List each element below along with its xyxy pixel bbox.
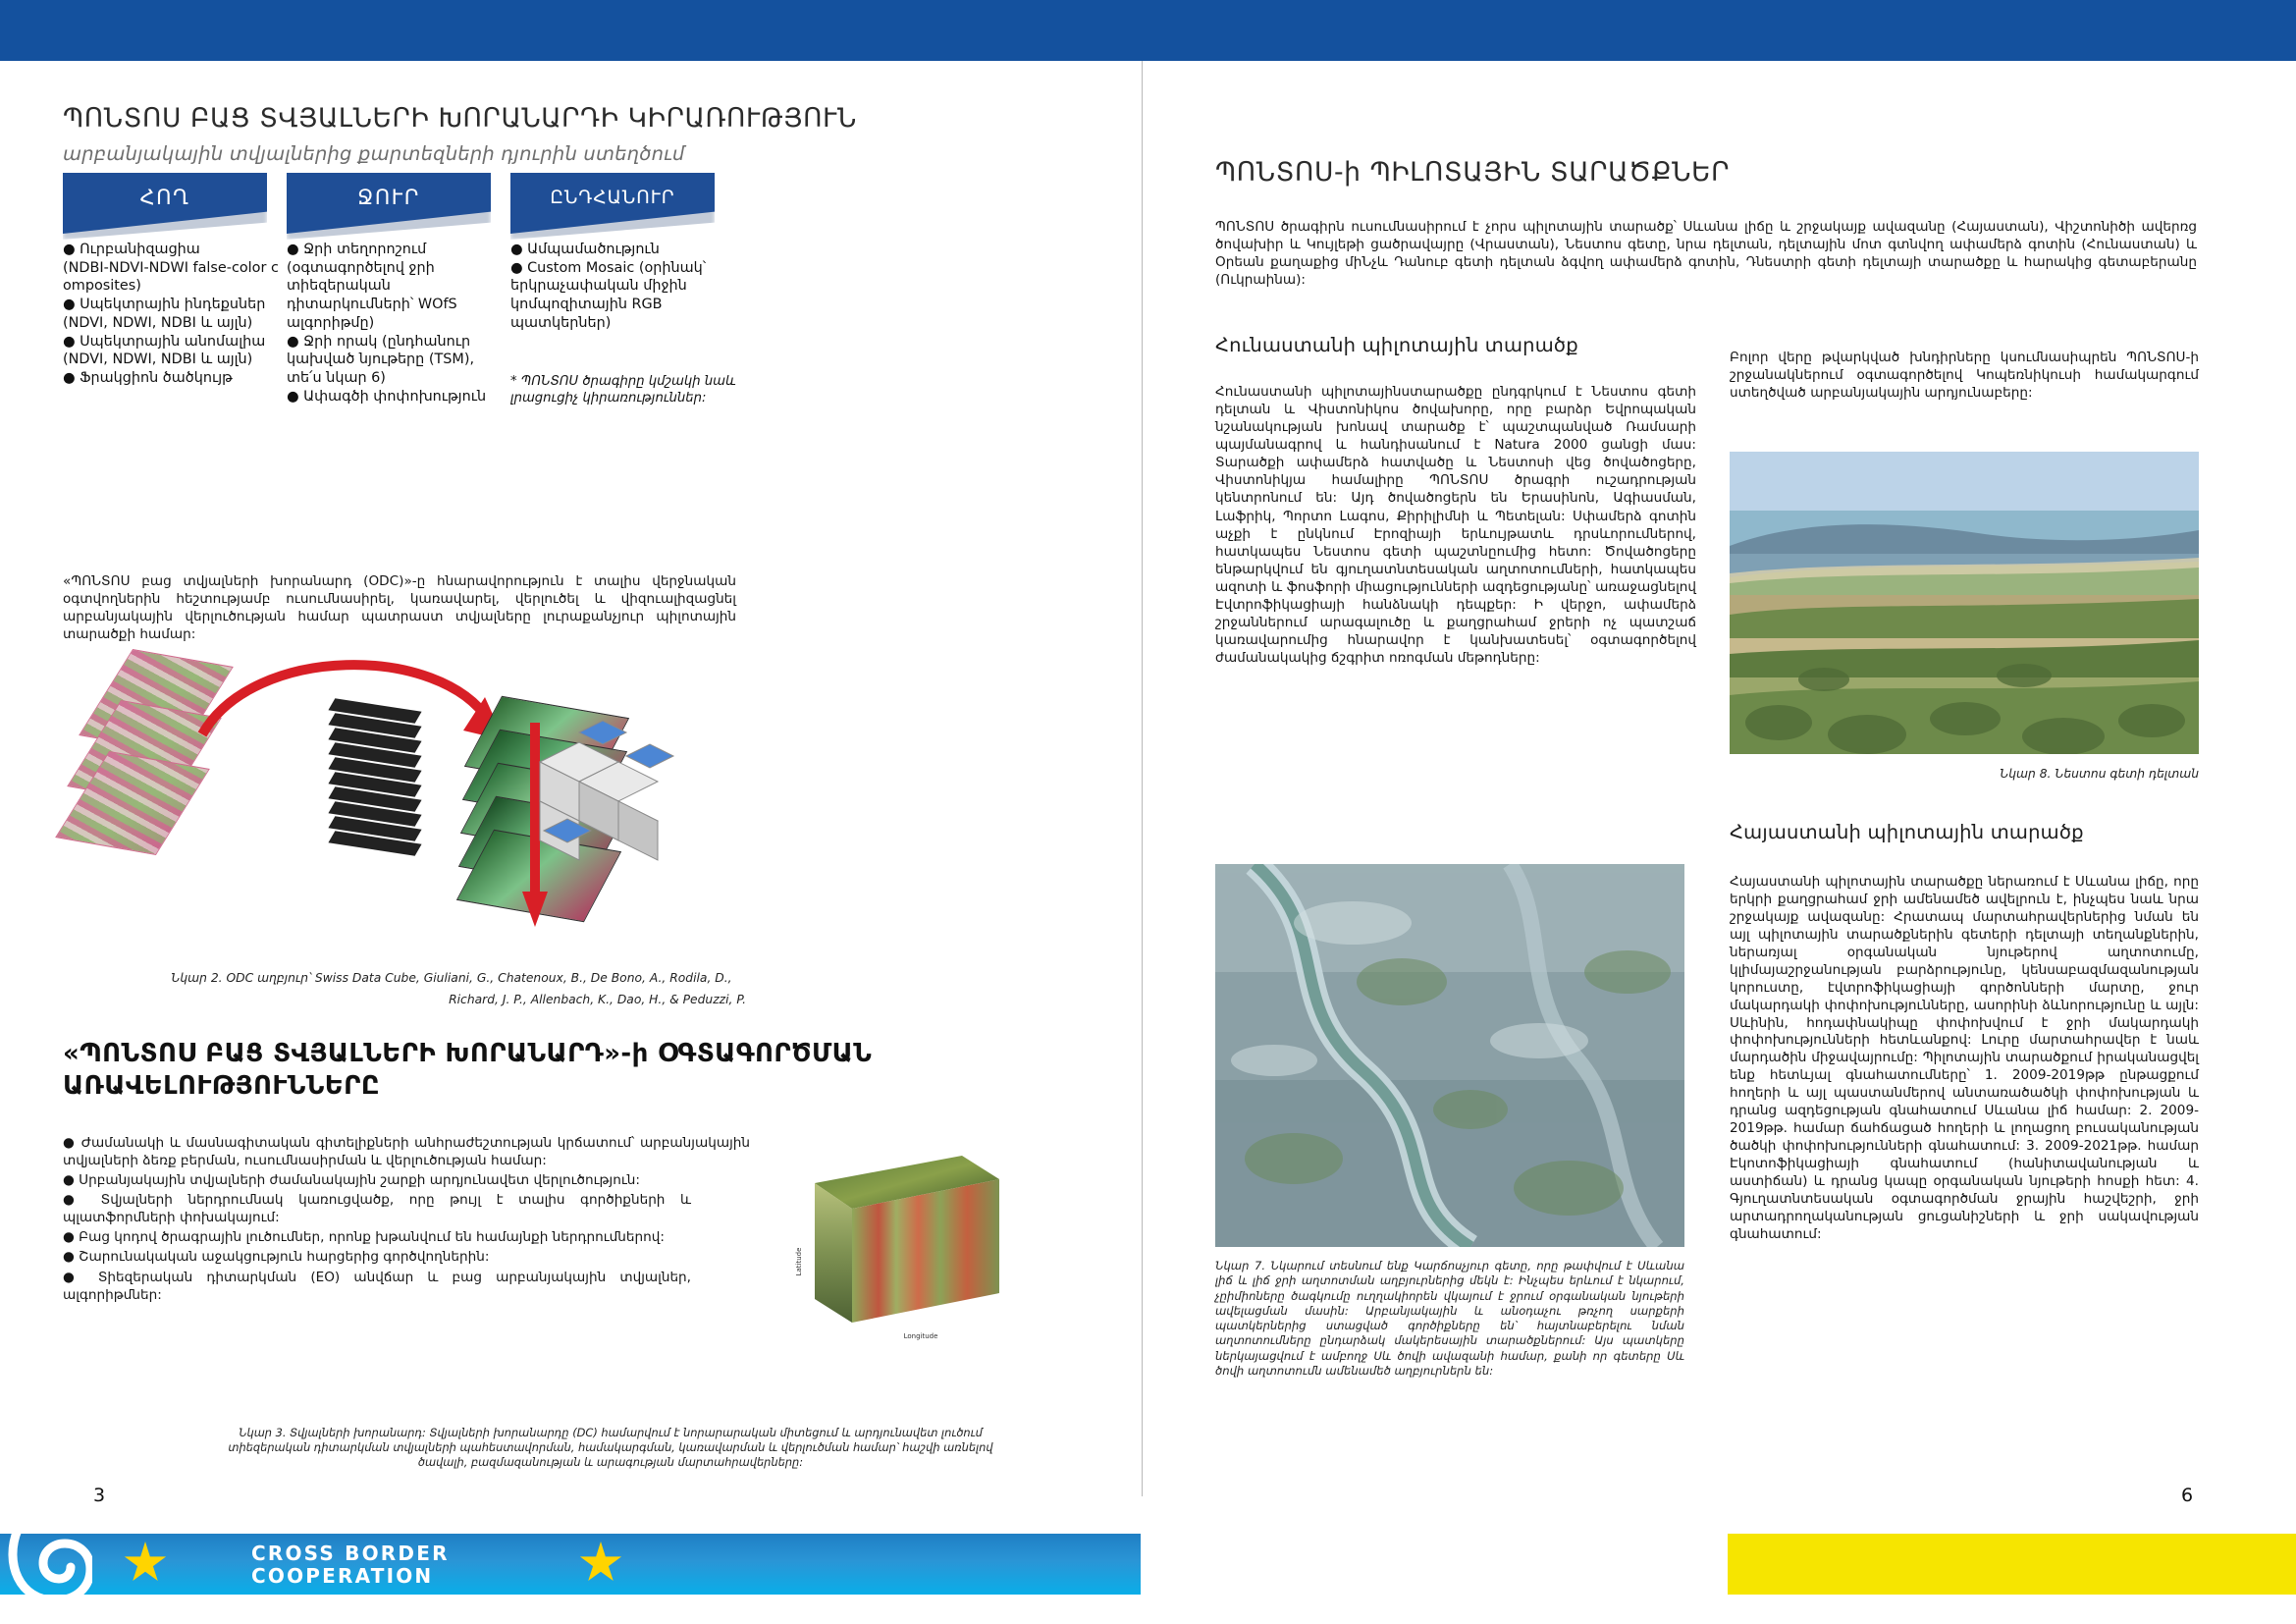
bullet-item: տե՛ս նկար 6) <box>287 369 501 388</box>
figure-2-odc-diagram <box>77 648 705 943</box>
bullet-item: դիտարկումների՝ WOfS <box>287 296 501 314</box>
advantage-item: ● Տիեզերական դիտարկման (EO) անվճար և բաց… <box>63 1269 691 1304</box>
svg-text:Longitude: Longitude <box>904 1332 938 1340</box>
data-cube-3d <box>520 713 697 880</box>
advantage-item: ● Ժամանակի և մասնագիտական գիտելիքների ան… <box>63 1134 750 1169</box>
greece-section-left-column: Հունաստանի պիլոտայինստարածքը ընդգրկում է… <box>1215 383 1696 667</box>
bullet-item: ● Ափագծի փոփոխություն <box>287 388 501 406</box>
figure-2-caption-line2: Richard, J. P., Allenbach, K., Dao, H., … <box>157 992 746 1008</box>
bullet-item: ● Սպեկտրային ինդեքսներ <box>63 296 287 314</box>
bullet-item: (NDVI, NDWI, NDBI և այլն) <box>63 314 287 333</box>
left-section2-title-line2: ԱՌԱՎԵԼՈՒԹՅՈՒՆՆԵՐԸ <box>63 1070 1044 1103</box>
advantages-list: ● Ժամանակի և մասնագիտական գիտելիքների ան… <box>63 1134 750 1306</box>
bullet-item: ալգորիթմը) <box>287 314 501 333</box>
right-page-title: ՊՈՆՏՈՍ-ի ՊԻԼՈՏԱՅԻՆ ՏԱՐԱԾՔՆԵՐ <box>1215 157 2197 188</box>
bullet-item: կախված նյութերը (TSM), <box>287 351 501 369</box>
figure-3-data-cube: Longitude Latitude <box>775 1144 1003 1340</box>
greece-section-right-column: Բոլոր վերը թվարկված խնդիրները կսումնասիպ… <box>1730 349 2199 402</box>
cbc-swirl-logo-icon <box>8 1524 92 1604</box>
bullets-water: ● Ջրի տեղորոշում (օգտագործելով ջրի տիեզե… <box>287 241 501 406</box>
bullet-item: ● Custom Mosaic (օրինակ՝ <box>510 259 736 278</box>
left-page-title: ՊՈՆՏՈՍ ԲԱՑ ՏՎՅԱԼՆԵՐԻ ԽՈՐԱՆԱՐԴԻ ԿԻՐԱՌՈՒԹՅ… <box>63 103 1103 134</box>
figure-7-river-aerial-photo <box>1215 864 1684 1247</box>
left-page-number: 3 <box>93 1485 105 1506</box>
armenia-section-heading: Հայաստանի պիլոտային տարածք <box>1730 821 2199 843</box>
figure-7-caption: Նկար 7. Նկարում տեսնում ենք Կարճոսչյուր … <box>1215 1259 1684 1379</box>
bullets-general: ● Ամպամածություն ● Custom Mosaic (օրինակ… <box>510 241 736 333</box>
bullets-land: ● Ուրբանիզացիա (NDBI-NDVI-NDWI false-col… <box>63 241 287 388</box>
left-intro-paragraph: «ՊՈՆՏՈՍ բաց տվյալների խորանարդ (ODC)»-ը … <box>63 572 736 643</box>
bullet-item: երկրաչափական միջին <box>510 277 736 296</box>
cbc-line-1: CROSS BORDER <box>251 1543 450 1565</box>
page-divider <box>1142 61 1143 1496</box>
bullet-item: (օգտագործելով ջրի <box>287 259 501 278</box>
bullet-item: ● Սպեկտրային անոմալիա <box>63 333 287 352</box>
figure-2-caption-line1: Նկար 2. ODC աղբյուր՝ Swiss Data Cube, Gi… <box>157 970 746 987</box>
bullet-item: (NDVI, NDWI, NDBI և այլն) <box>63 351 287 369</box>
figure-8-nestos-delta-photo <box>1730 452 2199 754</box>
right-intro-paragraph: ՊՈՆՏՈՍ ծրագիրն ուսումնասիրում է չորս պիլ… <box>1215 218 2197 289</box>
bullet-item: ● Ջրի տեղորոշում <box>287 241 501 259</box>
banners-footnote: * ՊՈՆՏՈՍ ծրագիրը կմշակի նաև լրացուցիչ կի… <box>510 373 736 406</box>
figure-3-caption: Նկար 3. Տվյալների խորանարդ: Տվյալների խո… <box>218 1426 1003 1469</box>
bullet-item: տիեզերական <box>287 277 501 296</box>
footer-band-right <box>1728 1534 2296 1595</box>
advantage-item: ● Շարունակական աջակցություն հարցերից գոր… <box>63 1248 691 1266</box>
greece-section-heading: Հունաստանի պիլոտային տարածք <box>1215 334 1726 356</box>
footer-band-left <box>0 1534 1141 1595</box>
bullet-item: կոմպոզիտային RGB <box>510 296 736 314</box>
advantage-item: ● Բաց կոդով ծրագրային լուծումներ, որոնք … <box>63 1228 691 1246</box>
bullet-item: omposites) <box>63 277 287 296</box>
data-stack-black <box>328 705 436 882</box>
bullet-item: պատկերներ) <box>510 314 736 333</box>
right-page-number: 6 <box>2181 1485 2193 1506</box>
bullet-item: ● Ջրի որակ (ընդհանուր <box>287 333 501 352</box>
cbc-logo-text: CROSS BORDER COOPERATION <box>251 1543 450 1588</box>
bullet-item: (NDBI-NDVI-NDWI false-color c <box>63 259 287 278</box>
bullet-item: ● Ամպամածություն <box>510 241 736 259</box>
figure-8-caption: Նկար 8. Նեստոս գետի դելտան <box>1730 766 2199 783</box>
bullet-item: ● Ֆրակցիոն ծածկույթ <box>63 369 287 388</box>
top-blue-band <box>0 0 2296 61</box>
bullet-item: ● Ուրբանիզացիա <box>63 241 287 259</box>
advantage-item: ● Սրբանյակային տվյալների ժամանակային շար… <box>63 1171 691 1189</box>
document-page: ՊՈՆՏՈՍ ԲԱՑ ՏՎՅԱԼՆԵՐԻ ԽՈՐԱՆԱՐԴԻ ԿԻՐԱՌՈՒԹՅ… <box>0 0 2296 1624</box>
armenia-section-body: Հայաստանի պիլոտային տարածքը ներառում է Ս… <box>1730 874 2199 1244</box>
left-page-subtitle: արբանյակային տվյալներից քարտեզների դյուր… <box>63 142 1103 165</box>
advantage-item: ● Տվյալների ներդրումնակ կառուցվածք, որը … <box>63 1191 691 1226</box>
cbc-line-2: COOPERATION <box>251 1565 450 1588</box>
svg-text:Latitude: Latitude <box>795 1248 803 1276</box>
left-section2-title-line1: «ՊՈՆՏՈՍ ԲԱՑ ՏՎՅԱԼՆԵՐԻ ԽՈՐԱՆԱՐԴ»-ի ՕԳՏԱԳՈ… <box>63 1038 1044 1070</box>
